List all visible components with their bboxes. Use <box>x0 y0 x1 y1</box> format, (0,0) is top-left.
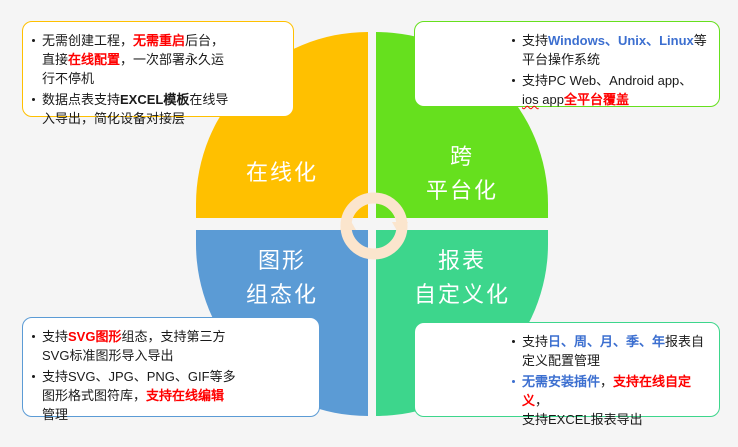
callout-report-customization: 支持日、周、月、季、年报表自定义配置管理 无需安装插件，支持在线自定义，支持EX… <box>414 322 720 417</box>
callout-cross-platform-list: 支持Windows、Unix、Linux等平台操作系统 支持PC Web、And… <box>421 31 709 109</box>
quadrant-label-online: 在线化 <box>196 156 368 190</box>
callout-cross-platform: 支持Windows、Unix、Linux等平台操作系统 支持PC Web、And… <box>414 21 720 107</box>
list-item: 支持PC Web、Android app、ios app全平台覆盖 <box>509 71 709 109</box>
list-item: 支持Windows、Unix、Linux等平台操作系统 <box>509 31 709 69</box>
list-item: 无需创建工程，无需重启后台，直接在线配置，一次部署永久运行不停机 <box>29 31 283 88</box>
callout-online: 无需创建工程，无需重启后台，直接在线配置，一次部署永久运行不停机 数据点表支持E… <box>22 21 294 117</box>
callout-graphic-configuration-list: 支持SVG图形组态，支持第三方SVG标准图形导入导出 支持SVG、JPG、PNG… <box>29 327 309 424</box>
quadrant-label-report-customization: 报表 自定义化 <box>376 244 548 312</box>
callout-online-list: 无需创建工程，无需重启后台，直接在线配置，一次部署永久运行不停机 数据点表支持E… <box>29 31 283 128</box>
list-item: 支持日、周、月、季、年报表自定义配置管理 <box>509 332 709 370</box>
quadrant-label-cross-platform: 跨 平台化 <box>376 140 548 208</box>
quadrant-label-graphic-configuration: 图形 组态化 <box>196 244 368 312</box>
list-item: 数据点表支持EXCEL模板在线导入导出，简化设备对接层 <box>29 90 283 128</box>
callout-graphic-configuration: 支持SVG图形组态，支持第三方SVG标准图形导入导出 支持SVG、JPG、PNG… <box>22 317 320 417</box>
list-item: 无需安装插件，支持在线自定义，支持EXCEL报表导出 <box>509 372 709 429</box>
list-item: 支持SVG、JPG、PNG、GIF等多图形格式图符库，支持在线编辑管理 <box>29 367 309 424</box>
callout-report-customization-list: 支持日、周、月、季、年报表自定义配置管理 无需安装插件，支持在线自定义，支持EX… <box>421 332 709 429</box>
list-item: 支持SVG图形组态，支持第三方SVG标准图形导入导出 <box>29 327 309 365</box>
spellcheck-underline: ios <box>522 92 539 107</box>
diagram-canvas: 在线化 跨 平台化 图形 组态化 报表 自定义化 无需创建工程，无需重启后台，直… <box>0 0 738 447</box>
